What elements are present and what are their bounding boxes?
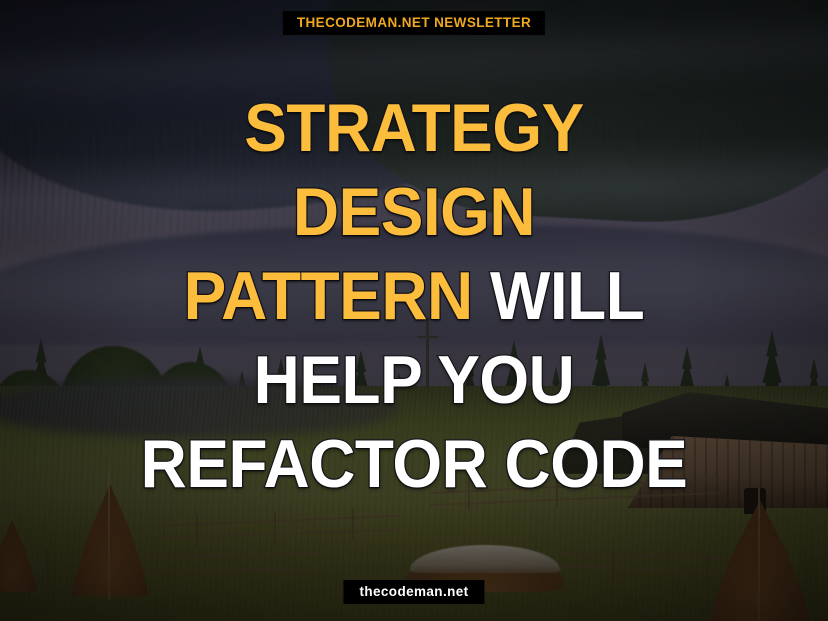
headline-line-5: REFACTOR CODE (49, 422, 778, 506)
headline-line-1: STRATEGY (49, 86, 778, 170)
headline-word-help-you: HELP YOU (254, 342, 575, 418)
headline-word-refactor-code: REFACTOR CODE (141, 426, 688, 502)
headline-word-strategy: STRATEGY (244, 90, 584, 166)
newsletter-poster: THECODEMAN.NET NEWSLETTER STRATEGY DESIG… (0, 0, 828, 621)
headline-line-3: PATTERN WILL (49, 254, 778, 338)
newsletter-header-badge: THECODEMAN.NET NEWSLETTER (283, 11, 545, 35)
headline-line-4: HELP YOU (49, 338, 778, 422)
headline-word-will: WILL (473, 258, 645, 334)
headline: STRATEGY DESIGN PATTERN WILL HELP YOU RE… (0, 86, 828, 506)
headline-line-2: DESIGN (49, 170, 778, 254)
headline-word-design: DESIGN (293, 174, 535, 250)
headline-word-pattern: PATTERN (184, 258, 473, 334)
site-footer-label: thecodeman.net (359, 584, 468, 599)
newsletter-header-label: THECODEMAN.NET NEWSLETTER (297, 15, 531, 30)
site-footer-badge[interactable]: thecodeman.net (343, 580, 484, 604)
